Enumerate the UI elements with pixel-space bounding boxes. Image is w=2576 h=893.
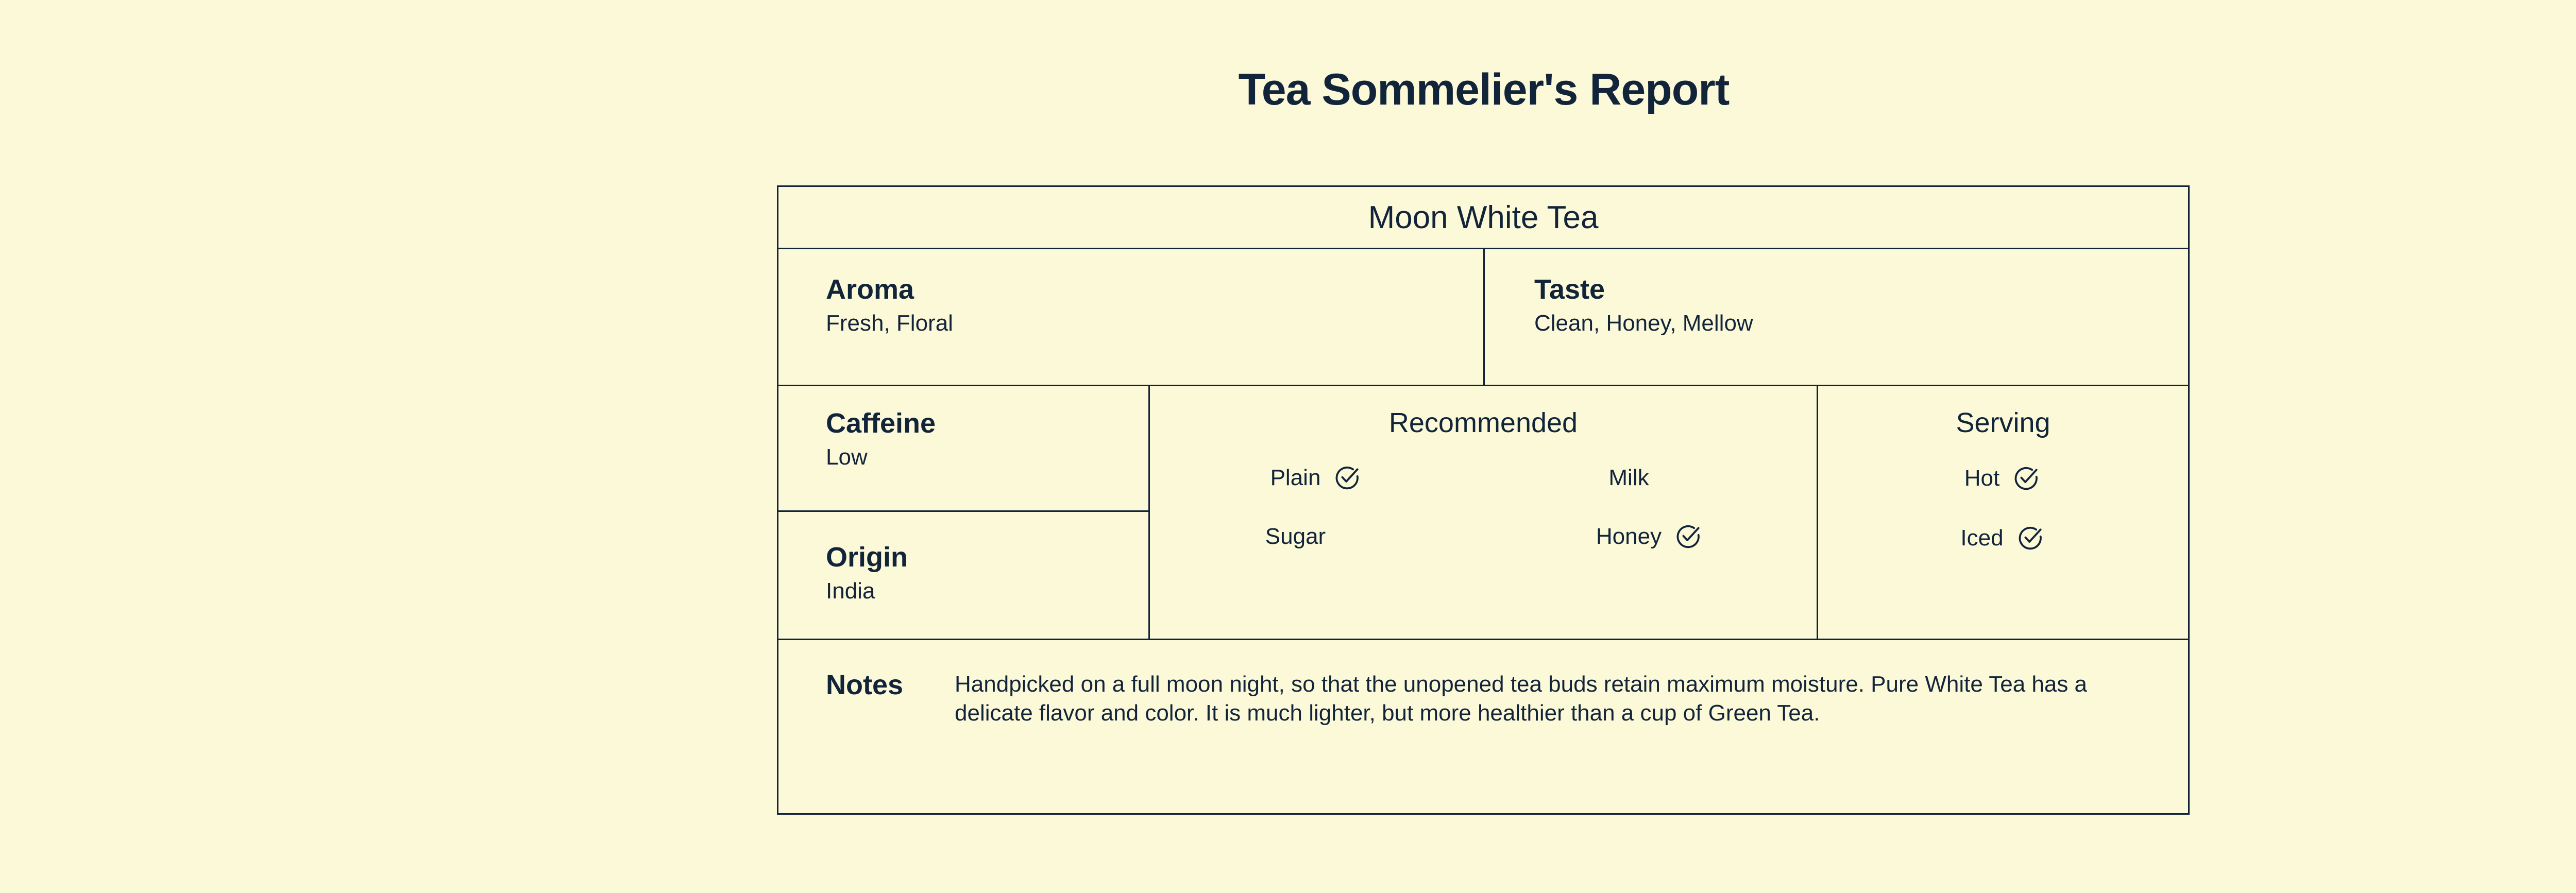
- aroma-cell: Aroma Fresh, Floral: [778, 249, 1483, 385]
- recommended-heading: Recommended: [1150, 407, 1817, 439]
- notes-text: Handpicked on a full moon night, so that…: [955, 670, 2152, 784]
- profile-row: Aroma Fresh, Floral Taste Clean, Honey, …: [778, 249, 2188, 386]
- serving-option-hot[interactable]: Hot: [1964, 463, 2042, 493]
- serving-option-label: Iced: [1960, 525, 2003, 551]
- check-circle-icon: [1672, 522, 1704, 551]
- taste-cell: Taste Clean, Honey, Mellow: [1483, 249, 2188, 385]
- report-page: Tea Sommelier's Report Moon White Tea Ar…: [0, 0, 2576, 893]
- taste-value: Clean, Honey, Mellow: [1534, 310, 2188, 337]
- recommended-options: Plain Milk: [1150, 463, 1817, 551]
- recommended-option-honey[interactable]: Honey: [1483, 522, 1817, 551]
- page-title: Tea Sommelier's Report: [0, 64, 2576, 115]
- recommended-option-sugar[interactable]: Sugar: [1150, 522, 1483, 551]
- table-header-row: Moon White Tea: [778, 187, 2188, 249]
- detail-row: Caffeine Low Origin India Recommended Pl…: [778, 386, 2188, 640]
- aroma-label: Aroma: [826, 274, 1483, 305]
- check-circle-icon: [1331, 463, 1363, 492]
- serving-options: Hot Iced: [1960, 463, 2045, 553]
- tea-report-table: Moon White Tea Aroma Fresh, Floral Taste…: [777, 185, 2190, 815]
- origin-value: India: [826, 578, 1148, 605]
- aroma-value: Fresh, Floral: [826, 310, 1483, 337]
- recommended-option-milk[interactable]: Milk: [1483, 463, 1817, 492]
- serving-option-label: Hot: [1964, 466, 1999, 491]
- origin-label: Origin: [826, 542, 1148, 573]
- origin-cell: Origin India: [778, 512, 1148, 637]
- attributes-column: Caffeine Low Origin India: [778, 386, 1148, 639]
- taste-label: Taste: [1534, 274, 2188, 305]
- recommended-option-plain[interactable]: Plain: [1150, 463, 1483, 492]
- notes-row: Notes Handpicked on a full moon night, s…: [778, 640, 2188, 813]
- check-circle-icon: [2010, 464, 2042, 493]
- notes-label: Notes: [826, 670, 955, 784]
- recommended-column: Recommended Plain Milk: [1148, 386, 1818, 639]
- recommended-option-label: Milk: [1608, 465, 1649, 491]
- caffeine-value: Low: [826, 444, 1148, 471]
- caffeine-label: Caffeine: [826, 408, 1148, 439]
- recommended-option-label: Honey: [1596, 524, 1662, 549]
- recommended-option-label: Sugar: [1265, 524, 1326, 549]
- tea-name: Moon White Tea: [1368, 199, 1599, 236]
- serving-column: Serving Hot Iced: [1818, 386, 2188, 639]
- recommended-option-label: Plain: [1270, 465, 1321, 491]
- check-circle-icon: [2014, 524, 2046, 553]
- caffeine-cell: Caffeine Low: [778, 386, 1148, 512]
- serving-heading: Serving: [1956, 407, 2050, 439]
- serving-option-iced[interactable]: Iced: [1960, 523, 2045, 553]
